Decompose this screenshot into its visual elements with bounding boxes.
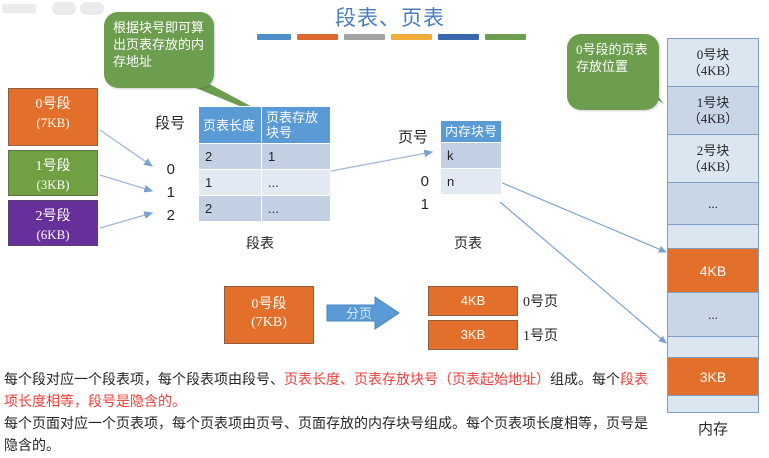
- segment-index-0: 0: [161, 158, 175, 181]
- memory-cell-8: 3KB: [668, 358, 758, 396]
- page-box-1: 3KB: [428, 320, 518, 350]
- segment-block-1-size: (3KB): [9, 176, 97, 194]
- title-bar-3: [391, 34, 432, 40]
- segment-row-2-length: 2: [199, 196, 262, 222]
- memory-cell-1: 1号块 （4KB）: [668, 87, 758, 135]
- page-table-index-column: 0 1: [415, 170, 429, 216]
- page-table: 内存块号 k n: [440, 120, 502, 195]
- memory-cell-8-name: 3KB: [700, 369, 726, 385]
- note-p1-red-1: 页表长度、页表存放块号（页表起始地址）: [284, 373, 550, 388]
- memory-cell-5-name: 4KB: [700, 263, 726, 279]
- page-box-0-label: 0号页: [523, 291, 558, 311]
- segment-row-0-block: 1: [262, 144, 331, 170]
- title-bar-2: [344, 34, 385, 40]
- table-row: k: [441, 143, 502, 169]
- title-bar-1: [297, 34, 338, 40]
- segment-table-col-page-table-length: 页表长度: [199, 107, 262, 144]
- page-box-0: 4KB: [428, 286, 518, 316]
- segment-table-index-column: 0 1 2: [161, 158, 175, 227]
- table-row: 2 1: [199, 144, 331, 170]
- page-table-index-label: 页号: [398, 126, 428, 147]
- segment-block-0: 0号段 (7KB): [8, 88, 98, 146]
- segment-block-2-size: (6KB): [9, 226, 97, 244]
- title-bar-4: [438, 34, 479, 40]
- note-paragraph-1: 每个段对应一个段表项，每个段表项由段号、页表长度、页表存放块号（页表起始地址）组…: [4, 370, 659, 414]
- title-accent-bars: [257, 34, 532, 42]
- segment-table-grid: 页表长度 页表存放块号 2 1 1 ... 2 ...: [198, 106, 331, 222]
- memory-cell-7: [668, 337, 758, 358]
- segment-block-0-size: (7KB): [9, 114, 97, 132]
- segment-block-2-name: 2号段: [9, 208, 97, 226]
- segment-table-col-page-table-block: 页表存放块号: [262, 107, 331, 144]
- memory-cell-5: 4KB: [668, 249, 758, 293]
- memory-cell-9: [668, 396, 758, 411]
- segment-index-1: 1: [161, 181, 175, 204]
- memory-cell-0: 0号块 （4KB）: [668, 39, 758, 87]
- table-row: 1 ...: [199, 170, 331, 196]
- memory-column: 0号块 （4KB） 1号块 （4KB） 2号块 （4KB） ... 4KB ..…: [667, 38, 759, 413]
- memory-cell-6: ...: [668, 293, 758, 337]
- segment-block-2: 2号段 (6KB): [8, 200, 98, 246]
- note-paragraph-2: 每个页面对应一个页表项，每个页表项由页号、页面存放的内存块号组成。每个页表项长度…: [4, 414, 659, 458]
- paging-source-segment: 0号段 (7KB): [224, 286, 314, 344]
- page-table-col-memory-block: 内存块号: [441, 121, 502, 143]
- callout-page-table-location: 0号段的页表存放位置: [567, 34, 659, 110]
- memory-cell-0-size: （4KB）: [688, 63, 739, 79]
- paging-arrow-label: 分页: [341, 303, 377, 322]
- memory-cell-6-name: ...: [708, 307, 718, 323]
- page-index-0: 0: [415, 170, 429, 193]
- segment-block-1-name: 1号段: [9, 158, 97, 176]
- memory-cell-2-size: （4KB）: [688, 159, 739, 175]
- paging-source-size: (7KB): [225, 314, 313, 332]
- callout-block-address: 根据块号即可算出页表存放的内存地址: [104, 12, 214, 88]
- table-row: n: [441, 169, 502, 195]
- table-row: 2 ...: [199, 196, 331, 222]
- memory-cell-3-name: ...: [708, 196, 718, 212]
- memory-cell-0-name: 0号块: [697, 47, 730, 63]
- memory-cell-1-size: （4KB）: [688, 111, 739, 127]
- segment-index-2: 2: [161, 204, 175, 227]
- segment-table-index-label: 段号: [155, 112, 185, 133]
- page-index-1: 1: [415, 193, 429, 216]
- segment-row-1-block: ...: [262, 170, 331, 196]
- paging-source-name: 0号段: [225, 296, 313, 314]
- segment-row-1-length: 1: [199, 170, 262, 196]
- segment-block-1: 1号段 (3KB): [8, 150, 98, 196]
- page-row-1-block: n: [441, 169, 502, 195]
- note-p1-part-b: 组成。每个: [550, 373, 620, 388]
- memory-cell-3: ...: [668, 183, 758, 225]
- page-table-header-row: 内存块号: [441, 121, 502, 143]
- segment-table: 页表长度 页表存放块号 2 1 1 ... 2 ...: [198, 106, 331, 222]
- notes-block: 每个段对应一个段表项，每个段表项由段号、页表长度、页表存放块号（页表起始地址）组…: [4, 370, 659, 458]
- watermark: [0, 0, 120, 18]
- page-table-grid: 内存块号 k n: [440, 120, 502, 195]
- segment-table-caption: 段表: [198, 233, 322, 253]
- page-box-1-label: 1号页: [523, 325, 558, 345]
- segment-row-0-length: 2: [199, 144, 262, 170]
- segment-table-header-row: 页表长度 页表存放块号: [199, 107, 331, 144]
- memory-cell-2-name: 2号块: [697, 143, 730, 159]
- note-p1-part-a: 每个段对应一个段表项，每个段表项由段号、: [4, 373, 284, 388]
- memory-cell-4: [668, 225, 758, 249]
- memory-cell-2: 2号块 （4KB）: [668, 135, 758, 183]
- page-table-caption: 页表: [432, 233, 504, 253]
- page-row-0-block: k: [441, 143, 502, 169]
- memory-caption: 内存: [667, 418, 759, 439]
- memory-cell-1-name: 1号块: [697, 95, 730, 111]
- segment-block-0-name: 0号段: [9, 96, 97, 114]
- segment-row-2-block: ...: [262, 196, 331, 222]
- page-title: 段表、页表: [260, 2, 520, 32]
- title-bar-5: [485, 34, 526, 40]
- title-bar-0: [257, 34, 291, 40]
